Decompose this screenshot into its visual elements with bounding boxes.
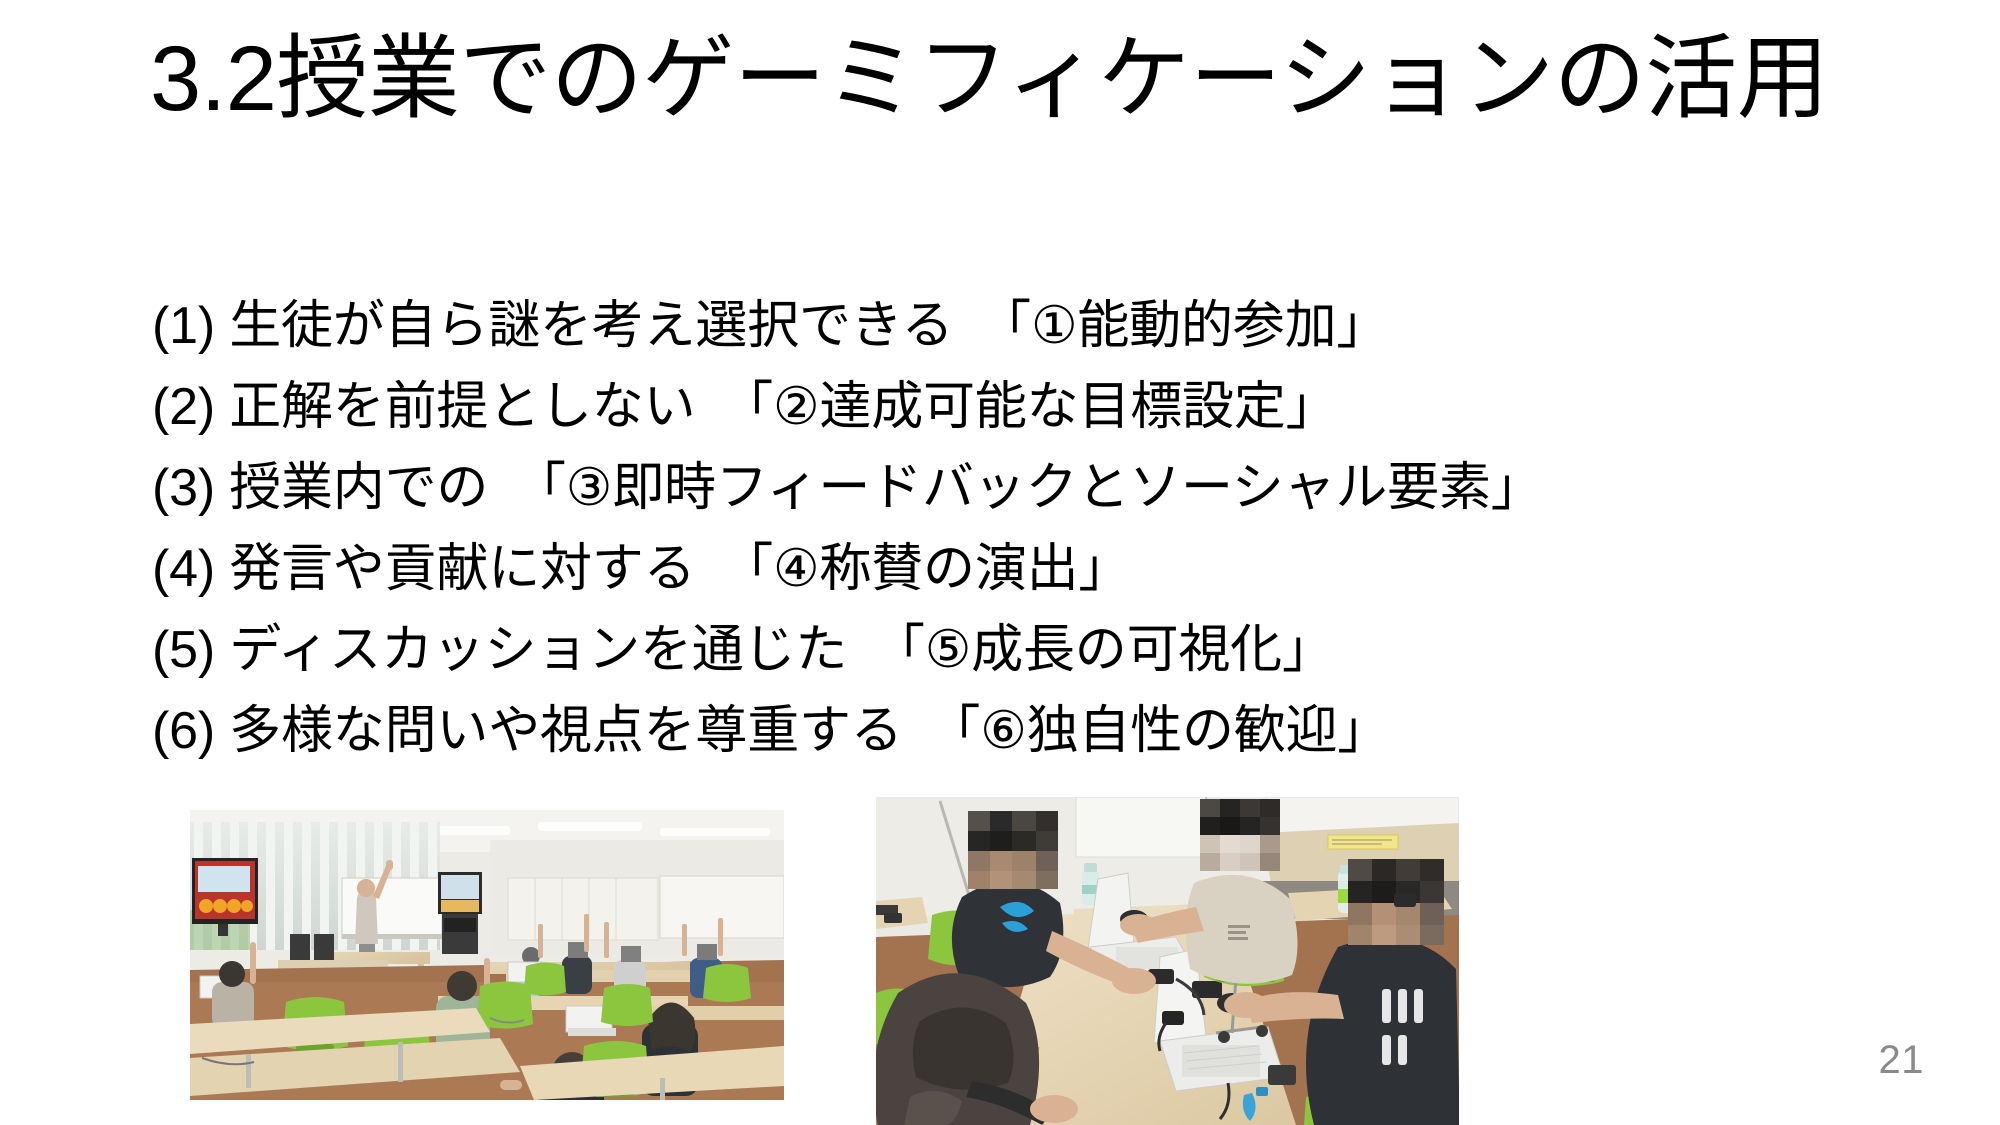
list-item: (3) 授業内での 「③即時フィードバックとソーシャル要素」 <box>152 448 1912 529</box>
page-number: 21 <box>1879 1038 1925 1083</box>
list-item: (6) 多様な問いや視点を尊重する 「⑥独自性の歓迎」 <box>152 691 1912 772</box>
list-item: (4) 発言や貢献に対する 「④称賛の演出」 <box>152 529 1912 610</box>
list-item: (1) 生徒が自ら謎を考え選択できる 「①能動的参加」 <box>152 286 1912 367</box>
body-list: (1) 生徒が自ら謎を考え選択できる 「①能動的参加」 (2) 正解を前提としな… <box>152 286 1912 772</box>
group-laptops-discussion-photo <box>876 797 1459 1125</box>
list-item: (2) 正解を前提としない 「②達成可能な目標設定」 <box>152 367 1912 448</box>
list-item: (5) ディスカッションを通じた 「⑤成長の可視化」 <box>152 610 1912 691</box>
classroom-hands-raised-photo <box>190 810 784 1100</box>
slide-canvas: 3.2授業でのゲーミフィケーションの活用 (1) 生徒が自ら謎を考え選択できる … <box>0 0 2000 1125</box>
page-title: 3.2授業でのゲーミフィケーションの活用 <box>150 28 1890 131</box>
